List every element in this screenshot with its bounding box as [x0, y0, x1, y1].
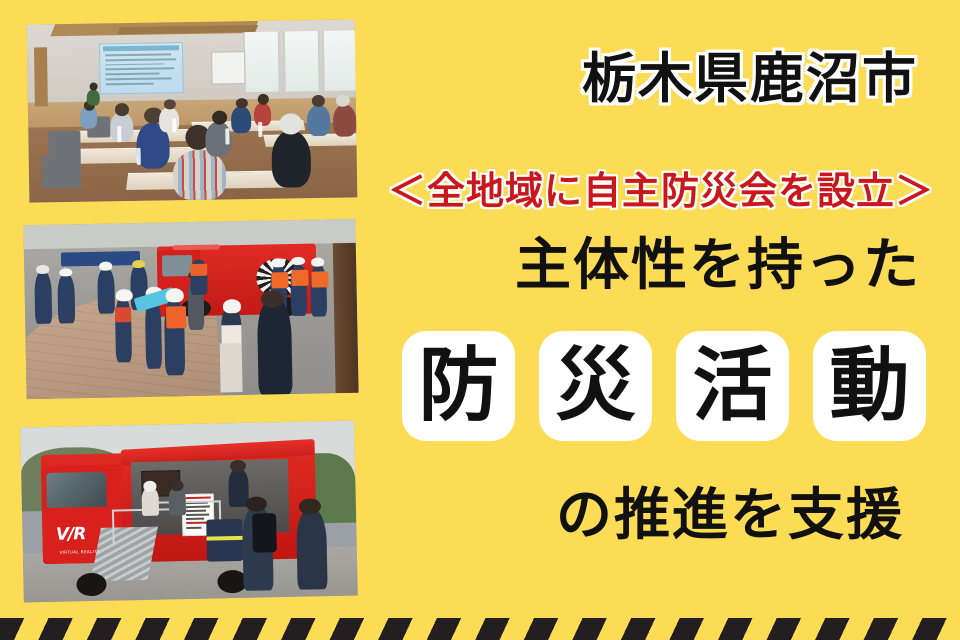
water-bottle: [258, 122, 262, 136]
firefighting-gear-display: [206, 519, 244, 562]
firefighter: [34, 272, 52, 324]
fire-engine-window: [162, 255, 192, 276]
vrtruck-scene: V/R VIRTUAL REALITY: [20, 421, 358, 603]
kanji-chip-dou: 動: [813, 331, 926, 441]
attendee-head: [115, 103, 129, 116]
attendee: [110, 112, 133, 143]
firefighter: [58, 275, 76, 324]
helmet-icon: [222, 299, 241, 313]
resident: [257, 300, 292, 395]
helmet-icon: [59, 268, 72, 277]
hazard-stripe-footer: [0, 618, 960, 640]
head: [299, 498, 321, 514]
helmet-icon: [132, 259, 145, 268]
subtitle-banner: ＜全地域に自主防災会を設立＞: [388, 172, 928, 210]
attendee: [231, 107, 251, 134]
kanji-chip-bou: 防: [402, 331, 515, 441]
drill-scene: [23, 219, 358, 399]
attendee: [271, 131, 311, 189]
water-bottle: [117, 126, 121, 142]
attendee-head: [279, 113, 302, 135]
whiteboard-icon: [211, 51, 246, 84]
headline-line-2: 主体性を持った: [508, 238, 928, 294]
rescue-vest: [190, 263, 207, 275]
projection-screen: [99, 42, 184, 95]
slide-line: [106, 83, 154, 86]
helmet-icon: [311, 258, 324, 267]
presenter: [87, 89, 100, 105]
water-bottle: [225, 128, 229, 144]
photo-drill: [23, 219, 358, 399]
backpack-icon: [253, 513, 277, 552]
head: [170, 480, 184, 491]
firefighter: [97, 269, 114, 315]
window-icon: [283, 31, 321, 92]
windshield: [46, 471, 107, 507]
attendee: [307, 105, 330, 136]
helmet-icon: [166, 288, 185, 302]
resident-trousers: [220, 343, 243, 392]
slide-line: [105, 63, 164, 66]
rescue-vest: [292, 270, 309, 286]
water-bottle: [137, 147, 141, 165]
window-icon: [243, 31, 281, 92]
helmet-icon: [271, 258, 284, 267]
rescue-vest: [272, 272, 289, 288]
seminar-scene: [27, 19, 358, 202]
slide-line: [105, 53, 171, 56]
firefighter: [114, 296, 132, 362]
poster-canvas: V/R VIRTUAL REALITY 栃木県鹿沼市 ＜全地域に自主防災会を設立…: [0, 0, 960, 640]
helmet-icon: [291, 256, 304, 265]
attendee-head: [212, 110, 227, 124]
slide-line: [105, 68, 174, 71]
presenter-head: [89, 82, 98, 90]
slide-line: [106, 78, 172, 81]
building-wall: [333, 243, 359, 393]
kanji-chip-sai: 災: [539, 331, 652, 441]
attendee: [254, 103, 271, 126]
helmet-icon: [36, 265, 49, 274]
helmet-icon: [99, 262, 112, 271]
cap-icon: [143, 481, 157, 492]
page-title-city: 栃木県鹿沼市: [575, 52, 925, 106]
helmet-icon: [116, 289, 133, 301]
slide-line: [105, 58, 176, 61]
rescue-vest: [166, 306, 186, 329]
rescue-vest: [115, 307, 132, 323]
head: [260, 290, 284, 308]
rescue-vest: [311, 272, 328, 288]
vr-logo-text: V/R: [56, 524, 86, 545]
visitor: [168, 487, 185, 515]
chair: [42, 155, 82, 188]
visitor: [142, 488, 159, 516]
kanji-chip-row: 防 災 活 動: [402, 331, 926, 441]
vr-logo-subtext: VIRTUAL REALITY: [59, 548, 99, 554]
attendee: [333, 105, 356, 137]
attendee-head: [164, 99, 176, 110]
headline-line-4: の推進を支援: [530, 488, 930, 544]
attendee: [173, 150, 226, 201]
photo-vrtruck: V/R VIRTUAL REALITY: [20, 421, 358, 603]
water-bottle: [172, 118, 176, 132]
visitor-foreground: [296, 509, 328, 590]
slide-line: [105, 73, 159, 76]
attendee-head: [257, 94, 268, 105]
slide-header-bar: [103, 45, 178, 51]
door-icon: [34, 47, 48, 106]
photo-seminar: [27, 19, 358, 202]
kanji-chip-katsu: 活: [676, 331, 789, 441]
window-icon: [322, 30, 357, 91]
